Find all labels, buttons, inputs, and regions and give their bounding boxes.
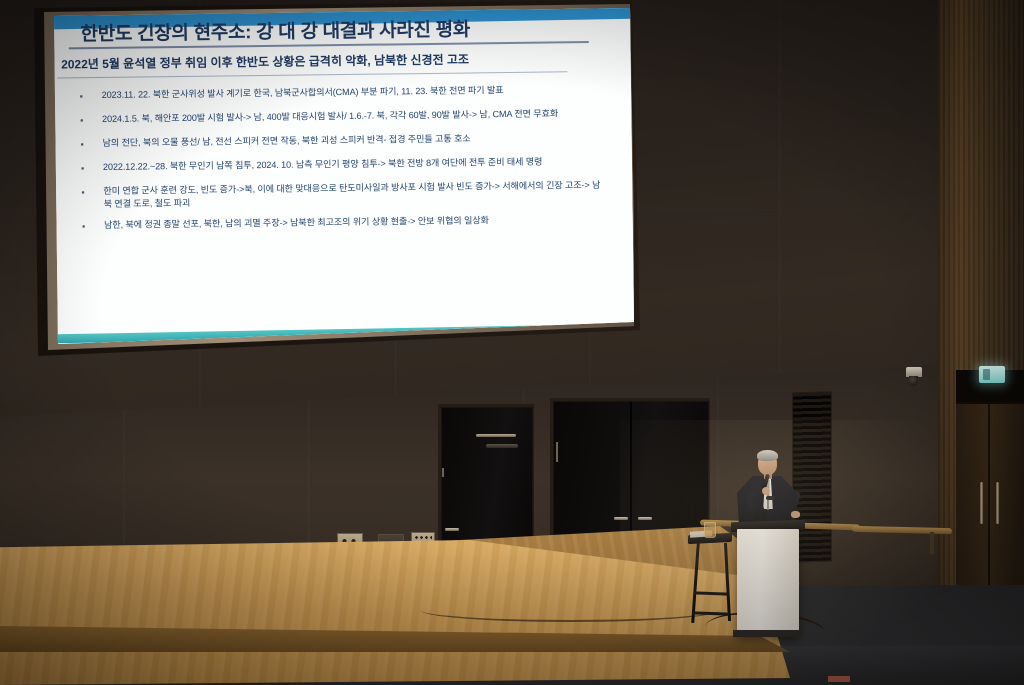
bullet-text: 한미 연합 군사 훈련 강도, 빈도 증가->북, 이에 대한 맞대응으로 탄도…	[103, 179, 606, 210]
cable-tape-marker	[828, 676, 850, 682]
door-hinge-icon	[556, 442, 558, 462]
slide-bullet-list: ▪ 2023.11. 22. 북한 군사위성 발사 계기로 한국, 남북군사합의…	[80, 83, 608, 243]
panic-bar-icon[interactable]	[476, 434, 516, 437]
podium-base	[733, 630, 803, 637]
projection-screen[interactable]: 한반도 긴장의 현주소: 강 대 강 대결과 사라진 평화 2022년 5월 윤…	[18, 4, 634, 348]
presentation-slide: 한반도 긴장의 현주소: 강 대 강 대결과 사라진 평화 2022년 5월 윤…	[18, 4, 634, 348]
list-item: ▪ 2023.11. 22. 북한 군사위성 발사 계기로 한국, 남북군사합의…	[80, 83, 605, 104]
door-handle-icon[interactable]	[445, 528, 459, 531]
podium	[737, 529, 799, 636]
door-handle-icon[interactable]	[980, 482, 983, 524]
bullet-text: 2023.11. 22. 북한 군사위성 발사 계기로 한국, 남북군사합의서(…	[102, 84, 504, 104]
bullet-marker-icon: ▪	[82, 219, 92, 234]
list-item: ▪ 남의 전단, 북의 오물 풍선/ 남, 전선 스피커 전면 작동, 북한 괴…	[80, 131, 605, 152]
bullet-marker-icon: ▪	[80, 137, 90, 152]
speaker-hair	[757, 450, 778, 461]
bullet-text: 남한, 북에 정권 종말 선포, 북한, 남의 괴멸 주장-> 남북한 최고조의…	[104, 214, 489, 234]
door-handle-icon[interactable]	[638, 517, 652, 520]
bullet-text: 2022.12.22.~28. 북한 무인기 남쪽 침투, 2024. 10. …	[103, 156, 543, 176]
stage-cable	[420, 598, 720, 622]
wood-door-double[interactable]	[956, 402, 1024, 602]
list-item: ▪ 2024.1.5. 북, 해안포 200발 시험 발사-> 남, 400발 …	[80, 107, 605, 128]
handrail-post	[930, 532, 934, 554]
slide-content: 한반도 긴장의 현주소: 강 대 강 대결과 사라진 평화 2022년 5월 윤…	[18, 4, 634, 348]
bullet-marker-icon: ▪	[81, 161, 91, 176]
door-handle-icon[interactable]	[996, 482, 999, 524]
speaker-hand-left	[762, 487, 770, 495]
bullet-marker-icon: ▪	[80, 113, 90, 128]
door-hinge-icon	[442, 468, 444, 477]
speaker-hand-right	[791, 511, 800, 518]
slide-subtitle: 2022년 5월 윤석열 정부 취임 이후 한반도 상황은 급격히 악화, 남북…	[61, 49, 601, 73]
drinking-glass	[704, 522, 716, 538]
door-handle-icon[interactable]	[614, 517, 628, 520]
podium-microphone-icon	[766, 496, 774, 500]
bullet-text: 2024.1.5. 북, 해안포 200발 시험 발사-> 남, 400발 대응…	[102, 107, 558, 128]
security-camera-icon	[906, 367, 922, 377]
bullet-text: 남의 전단, 북의 오물 풍선/ 남, 전선 스피커 전면 작동, 북한 괴성 …	[102, 132, 470, 151]
door-closer-icon	[486, 444, 518, 448]
list-item: ▪ 2022.12.22.~28. 북한 무인기 남쪽 침투, 2024. 10…	[81, 155, 606, 176]
lecture-hall-photo: 한반도 긴장의 현주소: 강 대 강 대결과 사라진 평화 2022년 5월 윤…	[0, 0, 1024, 685]
bullet-marker-icon: ▪	[80, 89, 90, 104]
bullet-marker-icon: ▪	[81, 185, 91, 210]
list-item: ▪ 한미 연합 군사 훈련 강도, 빈도 증가->북, 이에 대한 맞대응으로 …	[81, 179, 606, 211]
emergency-exit-sign-icon	[979, 366, 1005, 383]
list-item: ▪ 남한, 북에 정권 종말 선포, 북한, 남의 괴멸 주장-> 남북한 최고…	[82, 213, 607, 234]
slide-subtitle-underline	[57, 71, 567, 78]
